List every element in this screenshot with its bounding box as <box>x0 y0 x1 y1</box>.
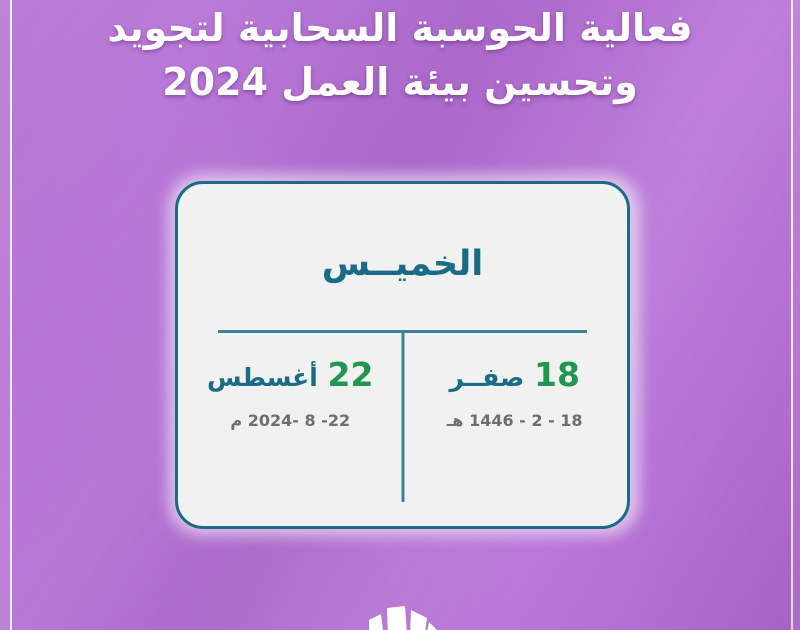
day-name-label: الخميــس <box>178 244 627 284</box>
hijri-date-column: 18 صفــر 18 - 2 - 1446 هـ <box>403 354 628 430</box>
poster-title-line-2: وتحسين بيئة العمل 2024 <box>30 56 770 110</box>
date-card: الخميــس 18 صفــر 18 - 2 - 1446 هـ 22 أغ… <box>175 181 630 529</box>
poster-title: فعالية الحوسبة السحابية لتجويد وتحسين بي… <box>0 2 800 110</box>
gregorian-date-column: 22 أغسطس 22- 8 -2024 م <box>178 354 403 430</box>
fan-petals-icon <box>325 584 475 630</box>
poster-title-line-1: فعالية الحوسبة السحابية لتجويد <box>30 2 770 56</box>
hijri-numeric-date: 18 - 2 - 1446 هـ <box>403 411 628 430</box>
gregorian-date-main: 22 أغسطس <box>178 354 403 395</box>
hijri-date-main: 18 صفــر <box>403 354 628 395</box>
gregorian-numeric-date: 22- 8 -2024 م <box>178 411 403 430</box>
gregorian-day-number: 22 <box>328 355 374 394</box>
gregorian-month-name: أغسطس <box>207 363 318 392</box>
date-columns: 18 صفــر 18 - 2 - 1446 هـ 22 أغسطس 22- 8… <box>178 354 627 430</box>
hijri-day-number: 18 <box>534 355 580 394</box>
hijri-month-name: صفــر <box>450 363 525 392</box>
poster-canvas: فعالية الحوسبة السحابية لتجويد وتحسين بي… <box>0 0 800 630</box>
date-card-wrapper: الخميــس 18 صفــر 18 - 2 - 1446 هـ 22 أغ… <box>168 174 640 536</box>
